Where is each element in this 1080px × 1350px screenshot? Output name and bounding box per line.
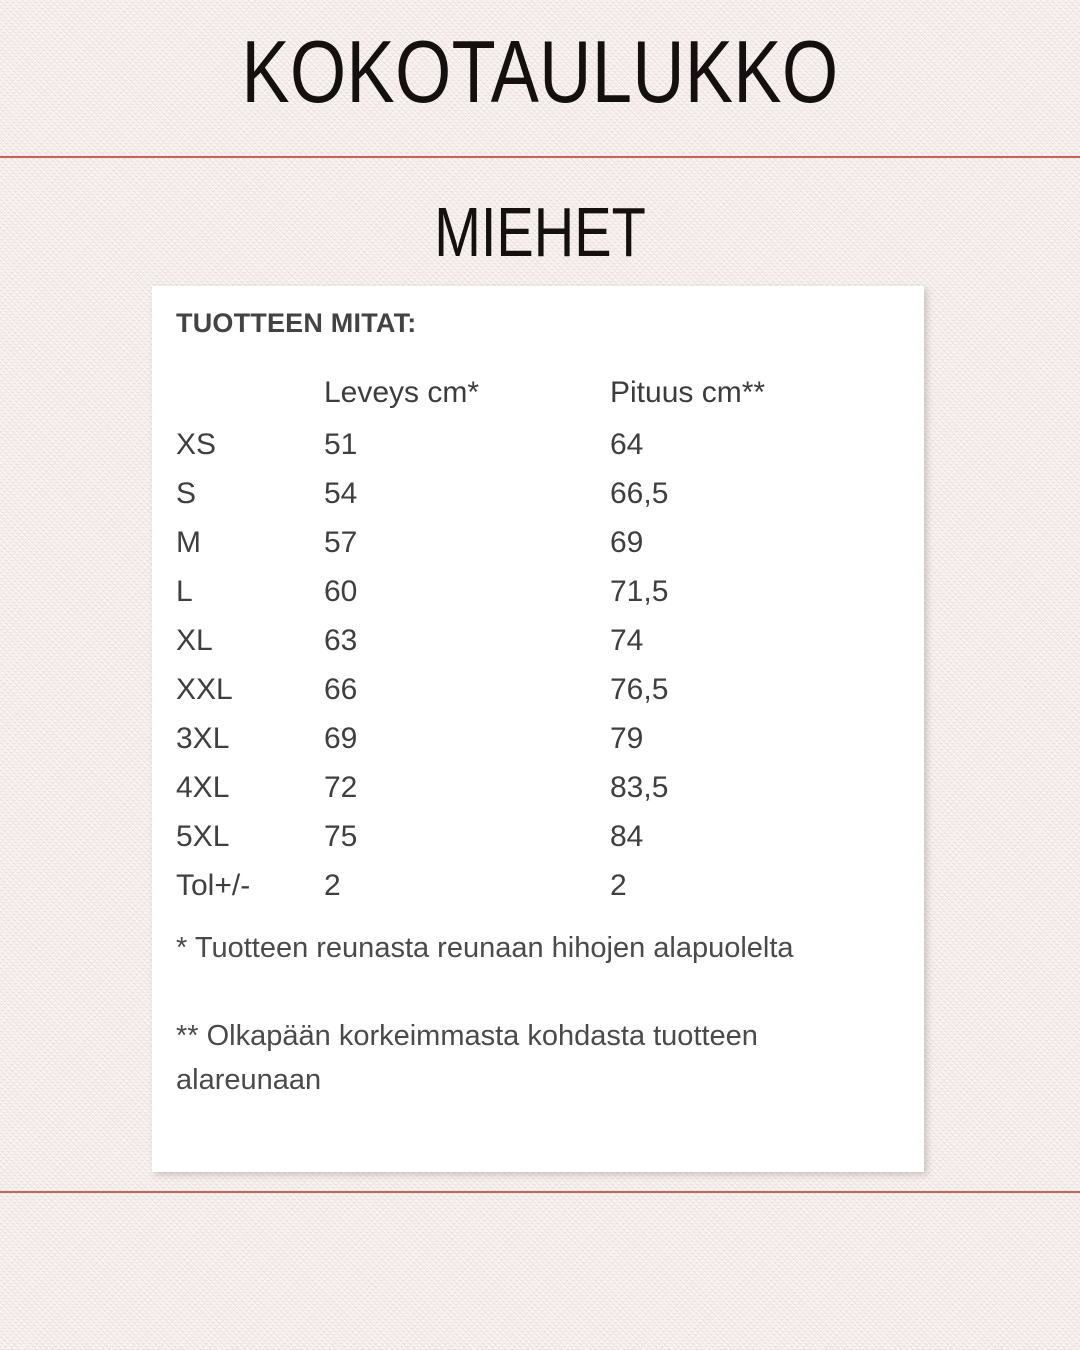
cell-length: 69 [610,524,900,562]
table-row: S 54 66,5 [176,475,900,524]
cell-length: 84 [610,818,900,856]
cell-width: 75 [324,818,610,856]
cell-size: 5XL [176,818,324,856]
cell-length: 83,5 [610,769,900,807]
table-row: XS 51 64 [176,426,900,475]
column-header-length: Pituus cm** [610,374,900,412]
cell-length: 66,5 [610,475,900,513]
measurements-table: Leveys cm* Pituus cm** XS 51 64 S 54 66,… [176,374,900,916]
cell-size: 3XL [176,720,324,758]
cell-width: 57 [324,524,610,562]
footnote-width: * Tuotteen reunasta reunaan hihojen alap… [176,926,904,970]
divider-bottom [0,1191,1080,1193]
table-row-tolerance: Tol+/- 2 2 [176,867,900,916]
cell-width: 51 [324,426,610,464]
divider-top [0,156,1080,158]
table-row: L 60 71,5 [176,573,900,622]
cell-width: 54 [324,475,610,513]
cell-width: 63 [324,622,610,660]
cell-size: XXL [176,671,324,709]
table-row: 3XL 69 79 [176,720,900,769]
cell-length: 71,5 [610,573,900,611]
cell-size: XS [176,426,324,464]
table-header-row: Leveys cm* Pituus cm** [176,374,900,426]
cell-width: 66 [324,671,610,709]
cell-length: 74 [610,622,900,660]
footnote-length: ** Olkapään korkeimmasta kohdasta tuotte… [176,1014,904,1102]
cell-width: 60 [324,573,610,611]
cell-length: 79 [610,720,900,758]
table-row: 5XL 75 84 [176,818,900,867]
footnotes: * Tuotteen reunasta reunaan hihojen alap… [176,926,904,1102]
page-title: KOKOTAULUKKO [97,22,983,122]
cell-size: Tol+/- [176,867,324,905]
cell-size: L [176,573,324,611]
cell-size: S [176,475,324,513]
table-row: 4XL 72 83,5 [176,769,900,818]
table-row: XXL 66 76,5 [176,671,900,720]
table-row: XL 63 74 [176,622,900,671]
card-heading: TUOTTEEN MITAT: [176,306,416,340]
cell-width: 2 [324,867,610,905]
cell-length: 64 [610,426,900,464]
section-subtitle: MIEHET [108,192,972,272]
measurements-card: TUOTTEEN MITAT: Leveys cm* Pituus cm** X… [152,286,924,1172]
cell-size: 4XL [176,769,324,807]
cell-length: 2 [610,867,900,905]
cell-width: 69 [324,720,610,758]
column-header-width: Leveys cm* [324,374,610,412]
size-chart-page: KOKOTAULUKKO MIEHET TUOTTEEN MITAT: Leve… [0,0,1080,1350]
cell-width: 72 [324,769,610,807]
table-row: M 57 69 [176,524,900,573]
cell-size: XL [176,622,324,660]
cell-size: M [176,524,324,562]
cell-length: 76,5 [610,671,900,709]
